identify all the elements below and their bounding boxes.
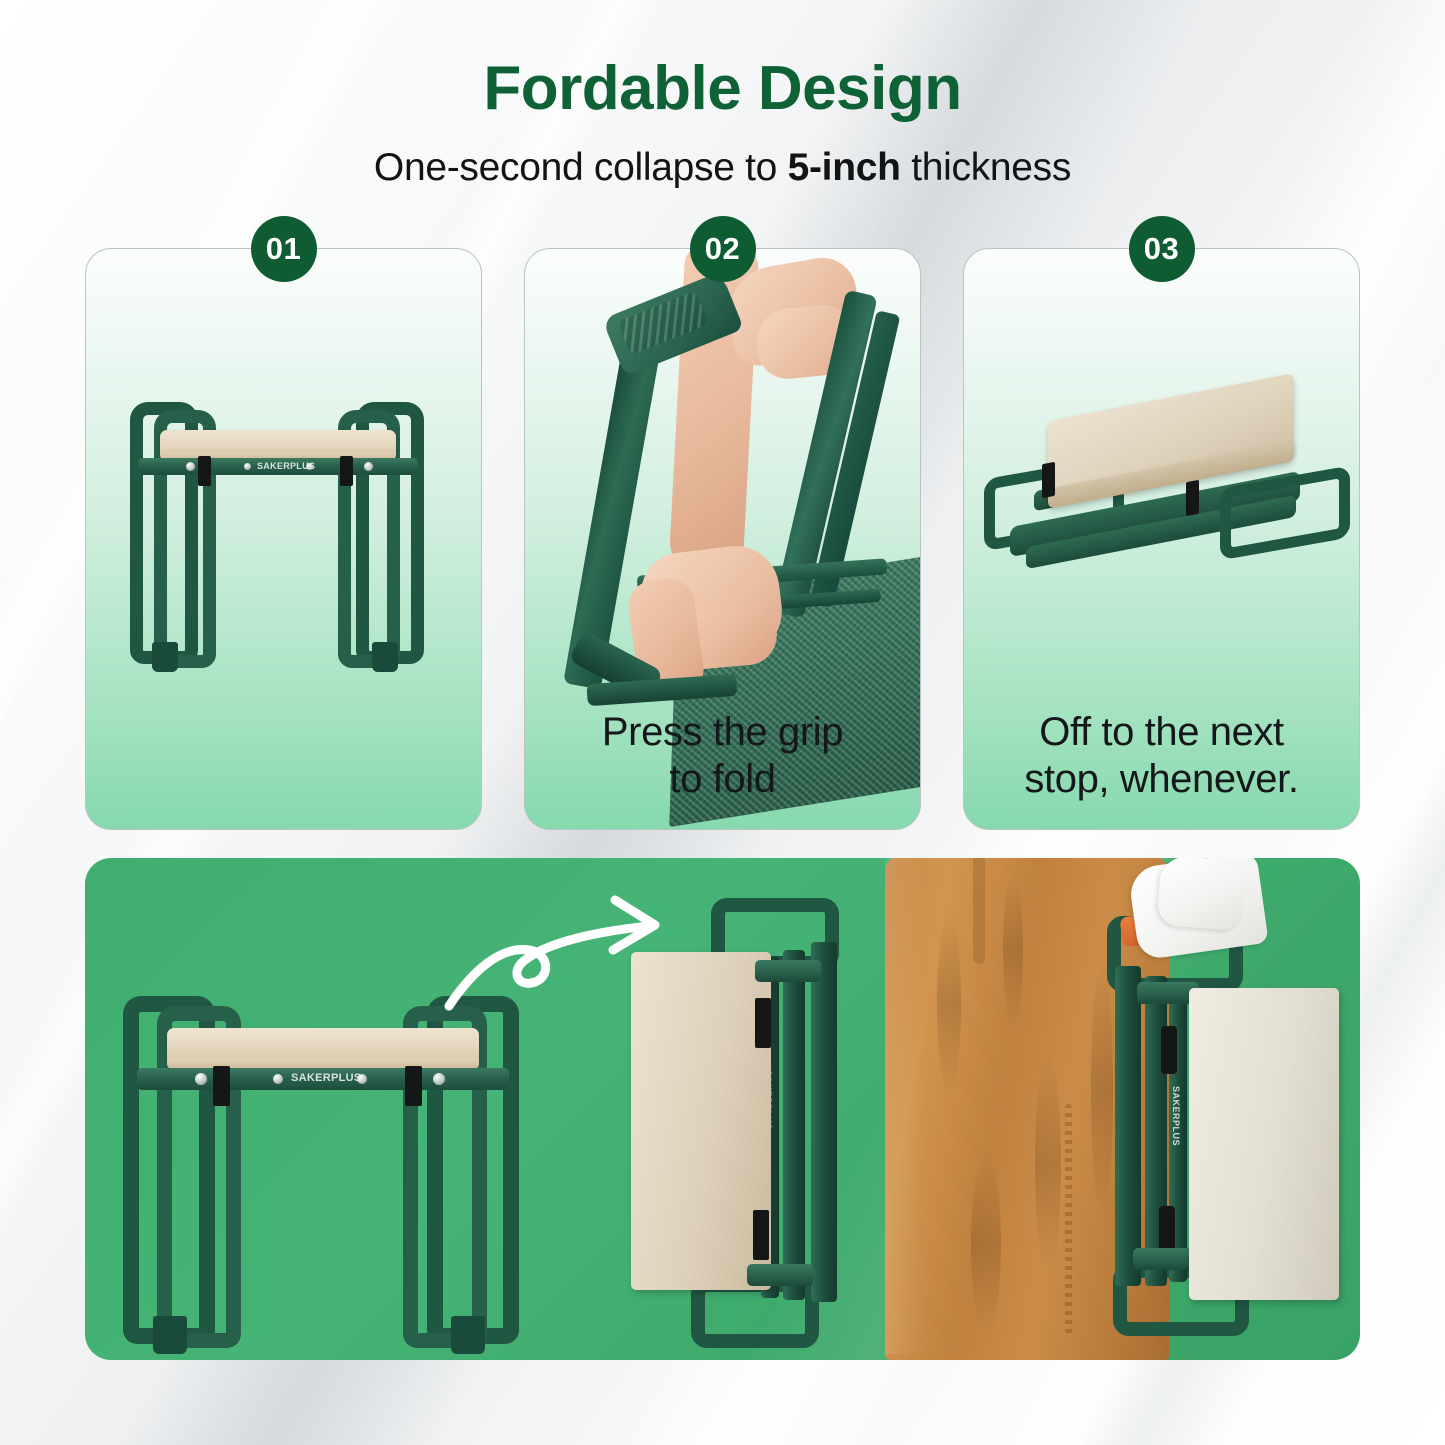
bottom-showcase-panel: SAKERPLUS SAKERPLUS (85, 858, 1360, 1360)
step-caption-02-line2: to fold (525, 756, 920, 803)
carried-kneeler: SAKERPLUS (1097, 916, 1347, 1336)
step-caption-02: Press the grip to fold (525, 709, 920, 803)
step-panel-01: SAKERPLUS 01 (85, 248, 482, 830)
step-panel-02: 02 Press the grip to fold (524, 248, 921, 830)
subtitle-suffix: thickness (901, 146, 1071, 189)
subtitle-prefix: One-second collapse to (374, 146, 788, 189)
step-caption-02-line1: Press the grip (525, 709, 920, 756)
work-glove-cuff (1157, 858, 1246, 931)
step-caption-03-line1: Off to the next (964, 709, 1359, 756)
kneeler-unfolded-illustration: SAKERPLUS (124, 394, 444, 684)
page-title: Fordable Design (0, 56, 1445, 121)
header: Fordable Design One-second collapse to 5… (0, 56, 1445, 190)
subtitle-highlight: 5-inch (788, 146, 901, 189)
person-carrying-kneeler-illustration: SAKERPLUS (875, 858, 1360, 1360)
kneeler-folded-flat-illustration: SAKERPLUS (982, 379, 1352, 609)
step-badge-02: 02 (690, 216, 756, 282)
brand-logo: SAKERPLUS (291, 1072, 362, 1084)
brand-logo: SAKERPLUS (1171, 1086, 1181, 1146)
brand-logo: SAKERPLUS (257, 461, 315, 471)
step-badge-01: 01 (251, 216, 317, 282)
step-panel-01-art: SAKERPLUS (86, 249, 481, 829)
step-caption-03: Off to the next stop, whenever. (964, 709, 1359, 803)
step-caption-03-line2: stop, whenever. (964, 756, 1359, 803)
kneeler-folded-vertical-illustration: SAKERPLUS (625, 898, 885, 1348)
step-panel-03: SAKERPLUS 03 Off to the next stop, whene… (963, 248, 1360, 830)
step-badge-03: 03 (1129, 216, 1195, 282)
steps-row: SAKERPLUS 01 (85, 248, 1360, 830)
kneeler-unfolded-large-illustration: SAKERPLUS (115, 986, 545, 1356)
page-subtitle: One-second collapse to 5-inch thickness (0, 147, 1445, 190)
